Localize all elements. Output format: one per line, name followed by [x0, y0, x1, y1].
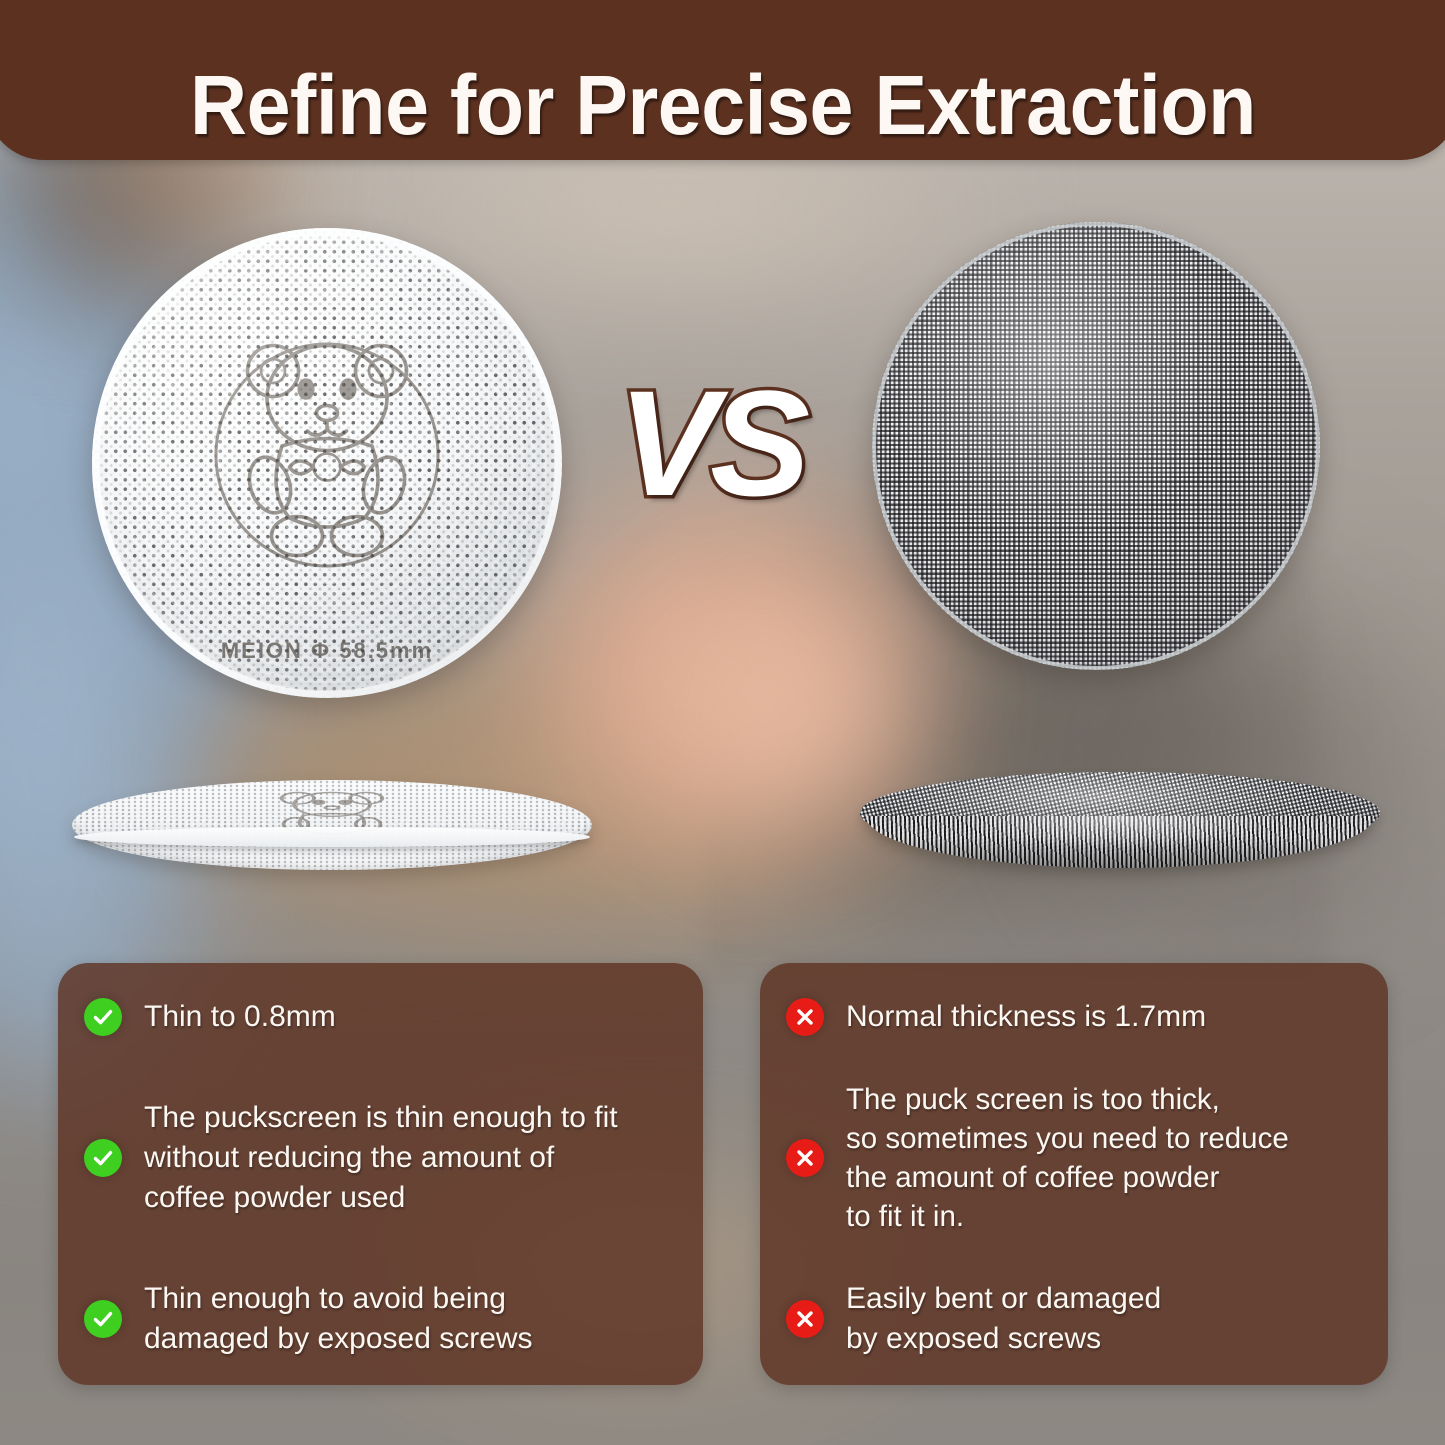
check-circle-icon — [84, 1139, 122, 1177]
product-image-mesh-puck-screen-side — [860, 772, 1380, 880]
product-image-meion-puck-screen-side — [72, 780, 592, 870]
benefit-text-1: Thin to 0.8mm — [144, 997, 336, 1037]
product-image-meion-puck-screen-top: MEION Φ 58.5mm — [92, 228, 562, 698]
check-circle-icon — [84, 1300, 122, 1338]
infographic-canvas: Refine for Precise Extraction — [0, 0, 1445, 1445]
benefit-text-2: The puckscreen is thin enough to fit wit… — [144, 1098, 618, 1218]
cross-circle-icon — [786, 1139, 824, 1177]
product-image-mesh-puck-screen-top — [872, 222, 1320, 670]
drawback-text-1: Normal thickness is 1.7mm — [846, 997, 1206, 1037]
benefits-panel-left: Thin to 0.8mm The puckscreen is thin eno… — [58, 963, 703, 1385]
thick-mesh-edge — [866, 816, 1374, 868]
drawbacks-panel-right: Normal thickness is 1.7mm The puck scree… — [760, 963, 1388, 1385]
check-circle-icon — [84, 998, 122, 1036]
product-comparison-stage: MEION Φ 58.5mm VS — [0, 160, 1445, 920]
drawback-text-2: The puck screen is too thick, so sometim… — [846, 1080, 1289, 1237]
cross-circle-icon — [786, 998, 824, 1036]
thin-plate-edge — [74, 827, 590, 847]
mesh-outer-rim — [872, 222, 1320, 670]
benefit-text-3: Thin enough to avoid being damaged by ex… — [144, 1279, 533, 1359]
benefit-item-2: The puckscreen is thin enough to fit wit… — [84, 1098, 675, 1218]
benefit-item-3: Thin enough to avoid being damaged by ex… — [84, 1279, 675, 1359]
header-banner: Refine for Precise Extraction — [0, 0, 1445, 160]
drawback-text-3: Easily bent or damaged by exposed screws — [846, 1279, 1161, 1359]
product-engraving-label: MEION Φ 58.5mm — [162, 638, 492, 664]
page-title: Refine for Precise Extraction — [190, 64, 1256, 146]
cross-circle-icon — [786, 1300, 824, 1338]
thin-plate-body — [72, 780, 592, 870]
disc-outer-rim — [92, 228, 562, 698]
drawback-item-2: The puck screen is too thick, so sometim… — [786, 1080, 1360, 1237]
versus-badge: VS — [618, 368, 802, 518]
drawback-item-1: Normal thickness is 1.7mm — [786, 997, 1360, 1037]
drawback-item-3: Easily bent or damaged by exposed screws — [786, 1279, 1360, 1359]
benefit-item-1: Thin to 0.8mm — [84, 997, 675, 1037]
